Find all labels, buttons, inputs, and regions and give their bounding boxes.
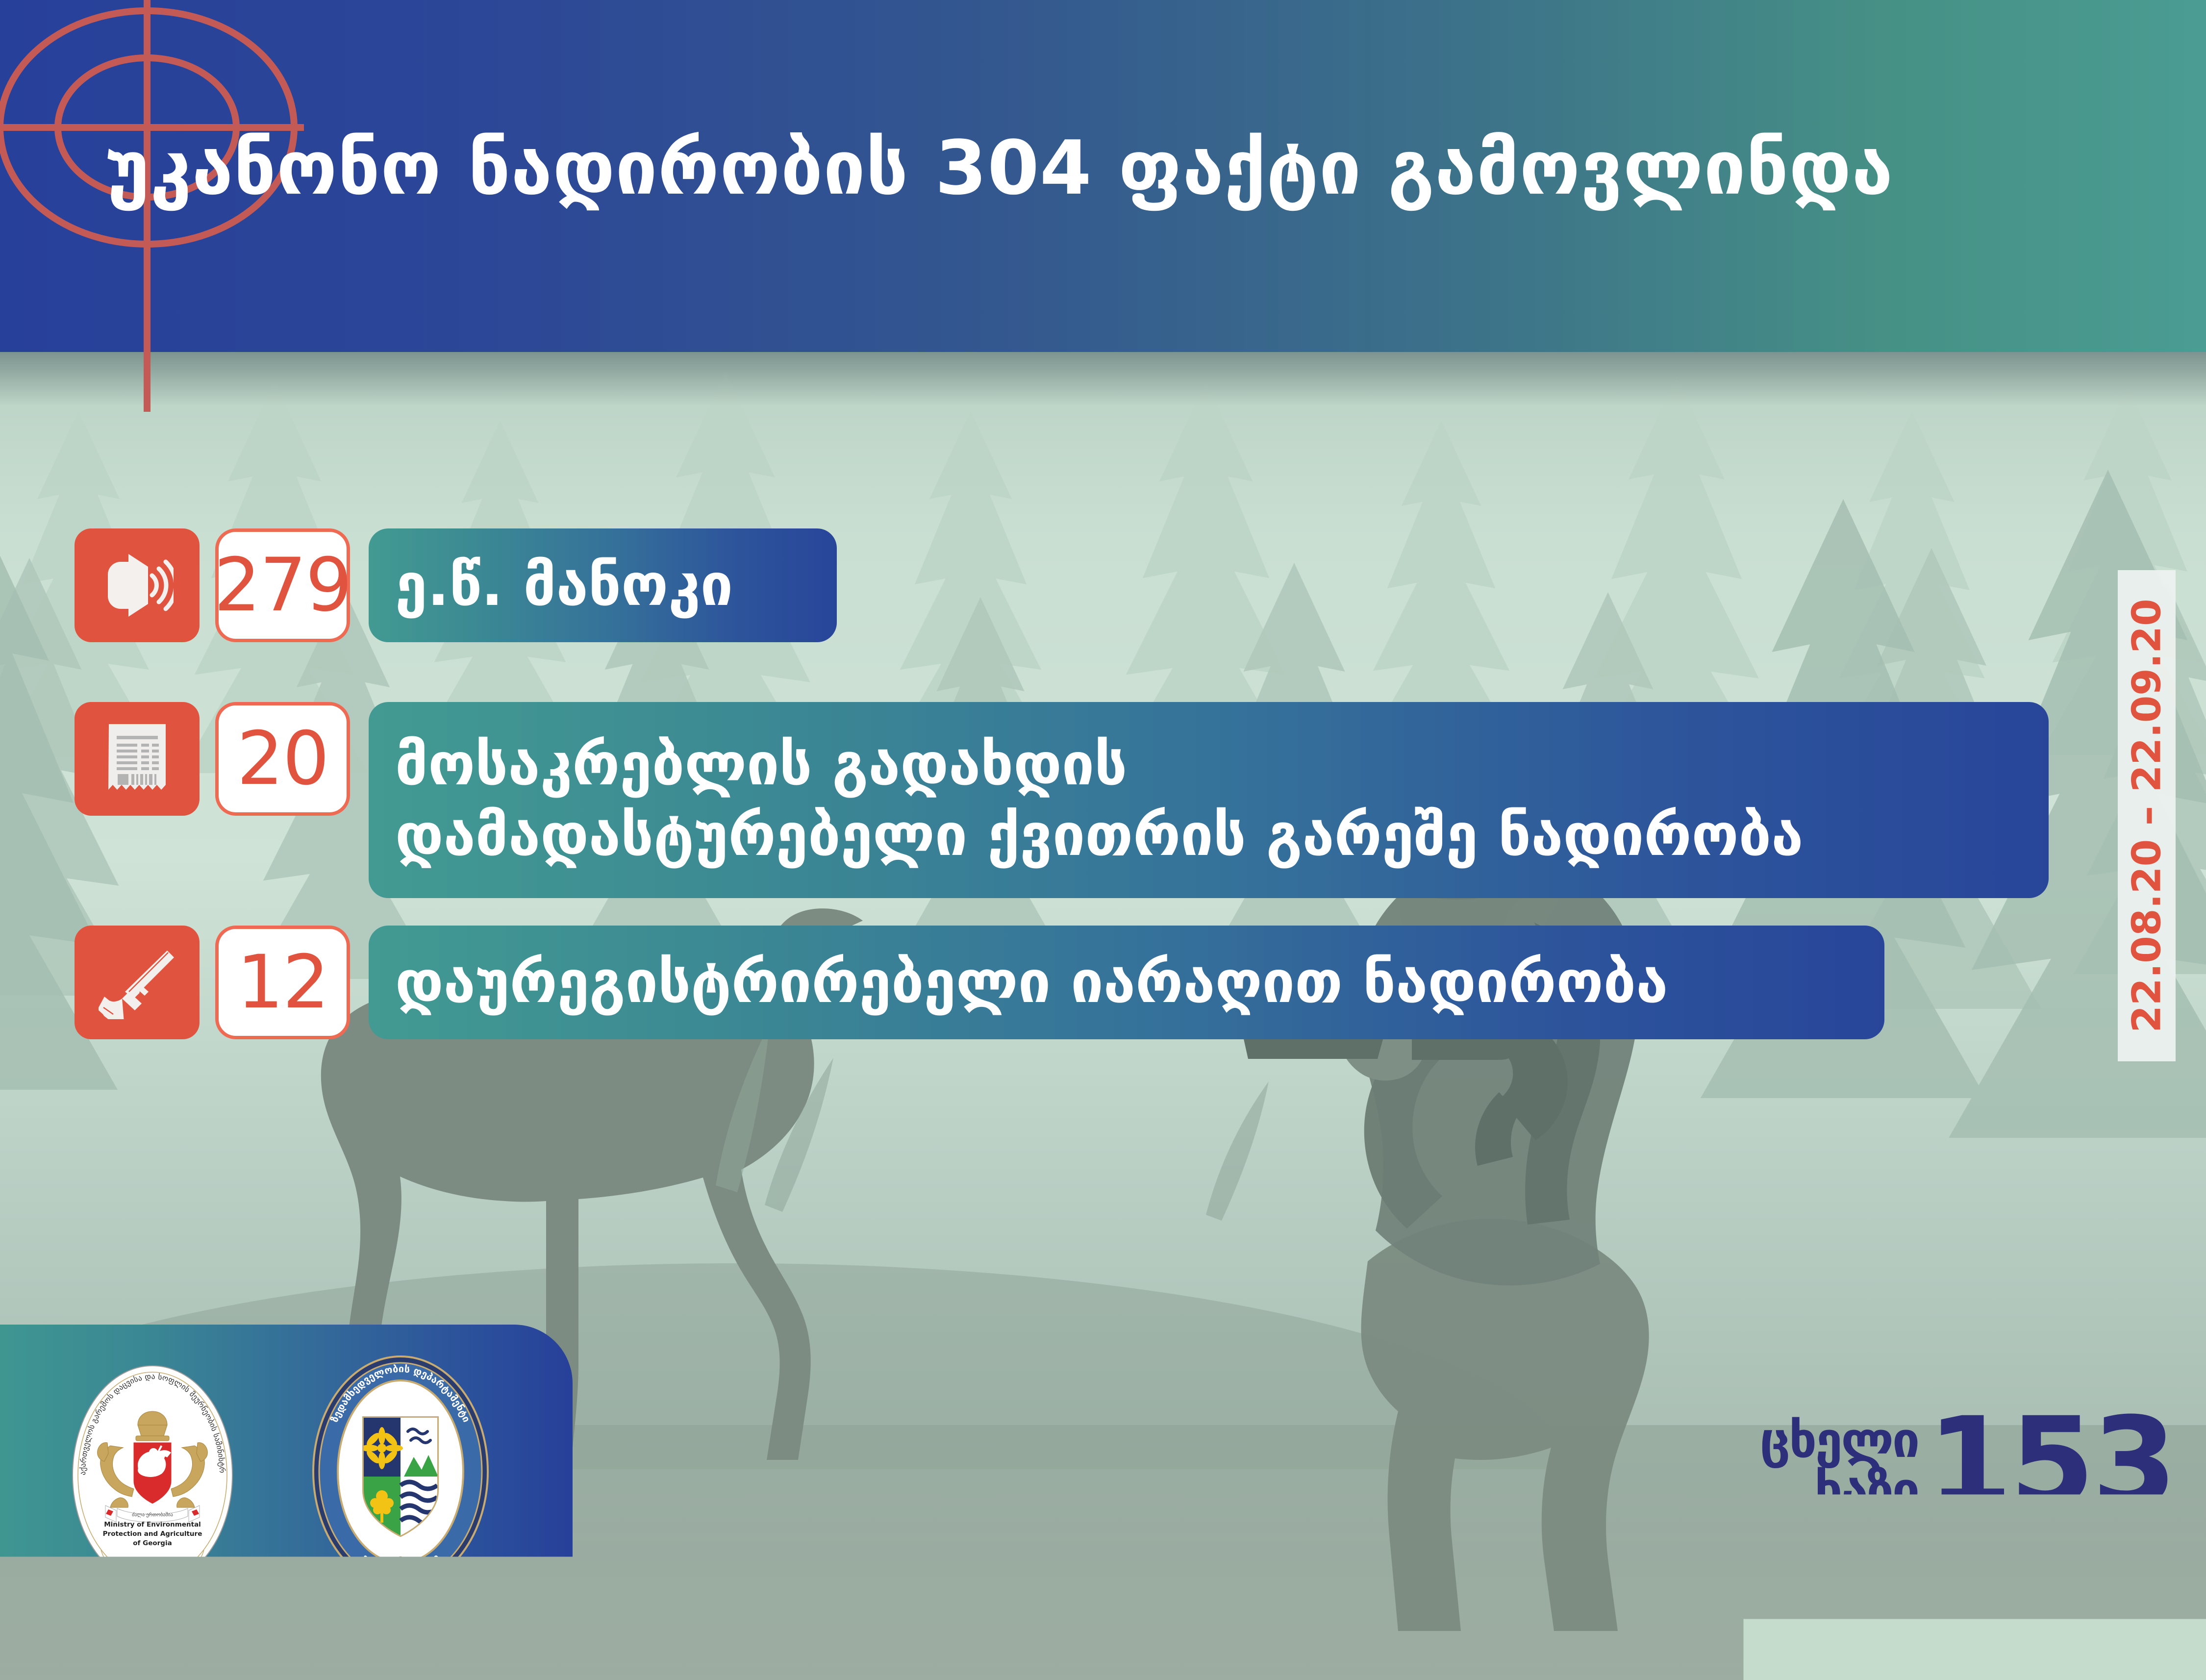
ministry-line-2: Protection and Agriculture	[103, 1530, 202, 1538]
stat-count-badge: 12	[215, 926, 350, 1039]
stat-label-pill: ე.წ. მანოკი	[369, 528, 837, 642]
stat-label-pill: დაურეგისტრირებელი იარაღით ნადირობა	[369, 926, 1884, 1039]
hotline-word-1: ცხელი	[1760, 1415, 1918, 1465]
stat-count-value: 279	[214, 549, 351, 622]
stat-count-badge: 20	[215, 702, 350, 816]
ministry-line-1: Ministry of Environmental	[104, 1521, 201, 1529]
stat-row: 20 მოსაკრებლის გადახდის დამადასტურებელი …	[75, 702, 2049, 898]
hotline-label: ცხელი ხაზი	[1760, 1409, 1927, 1515]
date-range-text: 22.08.20 – 22.09.20	[2124, 599, 2170, 1032]
date-range-stripe: 22.08.20 – 22.09.20	[2118, 570, 2176, 1061]
hotline-block: ცხელი ხაზი 153	[1760, 1407, 2174, 1517]
stat-count-value: 20	[237, 722, 328, 796]
stat-row: 12 დაურეგისტრირებელი იარაღით ნადირობა	[75, 926, 1884, 1039]
receipt-icon	[75, 702, 200, 816]
megaphone-icon	[75, 528, 200, 642]
stat-label-text: მოსაკრებლის გადახდის დამადასტურებელი ქვი…	[395, 729, 1803, 871]
hotline-word-2: ხაზი	[1760, 1465, 1918, 1515]
stat-label-text: ე.წ. მანოკი	[395, 550, 733, 621]
ministry-line-3: of Georgia	[133, 1539, 172, 1547]
hotline-number: 153	[1927, 1407, 2174, 1517]
stat-label-text: დაურეგისტრირებელი იარაღით ნადირობა	[395, 947, 1668, 1018]
stat-count-value: 12	[237, 946, 328, 1019]
shotgun-icon	[75, 926, 200, 1039]
ministry-url: mepa.gov.ge	[135, 1555, 170, 1561]
ministry-seal-logo: საქართველოს გარემოს დაცვისა და სოფლის მე…	[72, 1365, 233, 1585]
stat-count-badge: 279	[215, 528, 350, 642]
logo-panel: საქართველოს გარემოს დაცვისა და სოფლის მე…	[0, 1325, 573, 1624]
supervision-department-seal-logo: ზედამხედველობის დეპარტამენტი გარემოსდაცვ…	[310, 1354, 491, 1589]
svg-text:ძალა ერთობაშია: ძალა ერთობაშია	[132, 1512, 173, 1518]
stat-label-pill: მოსაკრებლის გადახდის დამადასტურებელი ქვი…	[369, 702, 2049, 898]
infographic-poster: უკანონო ნადირობის 304 ფაქტი გამოვლინდა	[0, 0, 2206, 1680]
stat-row: 279 ე.წ. მანოკი	[75, 528, 837, 642]
